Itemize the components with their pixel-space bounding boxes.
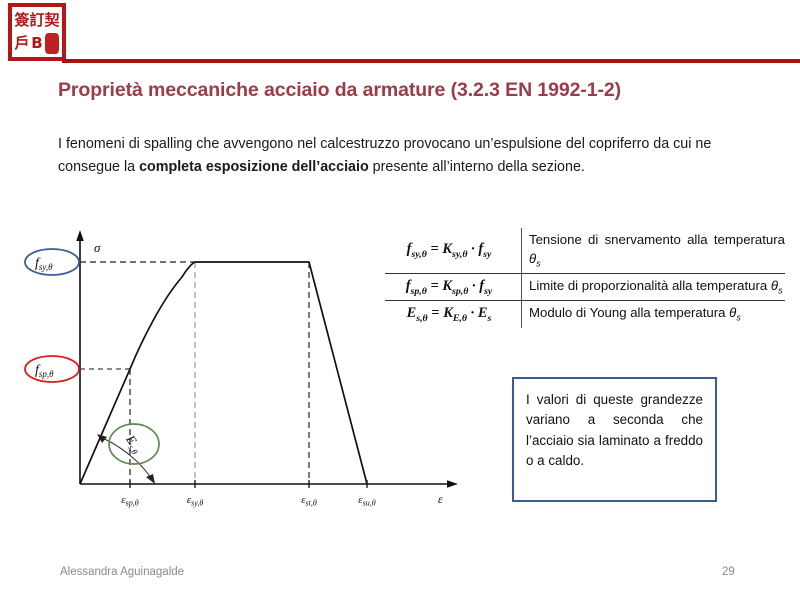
note-box: I valori di queste grandezze variano a s… <box>512 377 717 502</box>
footer-page-number: 29 <box>722 566 735 578</box>
seal-character: 簽 <box>15 10 29 32</box>
chart-xtick-label-esp: εsp,θ <box>121 494 138 508</box>
chart-xtick-label-esu: εsu,θ <box>358 494 375 508</box>
chart-y-axis-label-sigma: σ <box>94 240 101 255</box>
chart-annotation-label-modulus: Es,θ <box>121 431 146 457</box>
page-title: Proprietà meccaniche acciaio da armature… <box>58 79 758 102</box>
chart-ylabel-fsy: fsy,θ <box>35 256 53 272</box>
description-cell: Tensione di snervamento alla temperatura… <box>522 228 786 274</box>
seal-character: 訂 <box>30 10 44 32</box>
chart-x-axis-label-epsilon: ε <box>438 492 443 506</box>
chart-y-axis-arrow-icon <box>76 230 84 241</box>
red-seal-logo: 簽 訂 契 戶 B <box>8 3 66 61</box>
description-cell: Limite di proporzionalità alla temperatu… <box>522 274 786 301</box>
chart-xtick-label-esy: εsy,θ <box>187 494 204 508</box>
formula-cell: Es,θ = KE,θ · Es <box>385 301 522 328</box>
formula-cell: fsp,θ = Ksp,θ · fsy <box>385 274 522 301</box>
operator-dot: · <box>472 278 476 294</box>
chart-xtick-label-est: εst,θ <box>301 494 317 508</box>
formula-cell: fsy,θ = Ksy,θ · fsy <box>385 228 522 274</box>
operator-dot: · <box>471 305 475 321</box>
description-text: Modulo di Young alla temperatura <box>529 305 729 320</box>
note-box-text: I valori di queste grandezze variano a s… <box>514 379 715 472</box>
description-cell: Modulo di Young alla temperatura θs <box>522 301 786 328</box>
description-text: Limite di proporzionalità alla temperatu… <box>529 278 771 293</box>
body-paragraph: I fenomeni di spalling che avvengono nel… <box>58 133 758 179</box>
table-row: fsp,θ = Ksp,θ · fsy Limite di proporzion… <box>385 274 785 301</box>
chart-ylabel-fsp: fsp,θ <box>35 363 54 379</box>
chart-curve-stress-strain <box>80 262 367 484</box>
table-row: fsy,θ = Ksy,θ · fsy Tensione di snervame… <box>385 228 785 274</box>
description-symbol: θ <box>771 278 778 293</box>
operator-equals: = <box>430 278 438 294</box>
description-subscript: s <box>736 313 740 323</box>
body-text-part2: presente all’interno della sezione. <box>369 159 585 175</box>
footer-author: Alessandra Aguinagalde <box>60 566 184 578</box>
seal-character: 契 <box>45 10 59 32</box>
body-text-bold: completa esposizione dell’acciaio <box>139 159 369 175</box>
operator-equals: = <box>431 305 439 321</box>
operator-dot: · <box>471 241 475 257</box>
chart-x-axis-arrow-icon <box>447 480 458 487</box>
chart-modulus-arrowhead-icon <box>146 474 155 484</box>
seal-character: 戶 <box>15 33 29 55</box>
formula-table: fsy,θ = Ksy,θ · fsy Tensione di snervame… <box>385 228 785 328</box>
table-row: Es,θ = KE,θ · Es Modulo di Young alla te… <box>385 301 785 328</box>
seal-character: B <box>30 33 44 55</box>
description-text: Tensione di snervamento alla temperatura <box>529 232 785 247</box>
seal-dot-icon <box>45 33 59 55</box>
header-divider-rule <box>62 59 800 63</box>
operator-equals: = <box>430 241 438 257</box>
description-subscript: s <box>536 258 540 268</box>
description-subscript: s <box>778 286 782 296</box>
slide-header: 簽 訂 契 戶 B <box>0 0 800 70</box>
